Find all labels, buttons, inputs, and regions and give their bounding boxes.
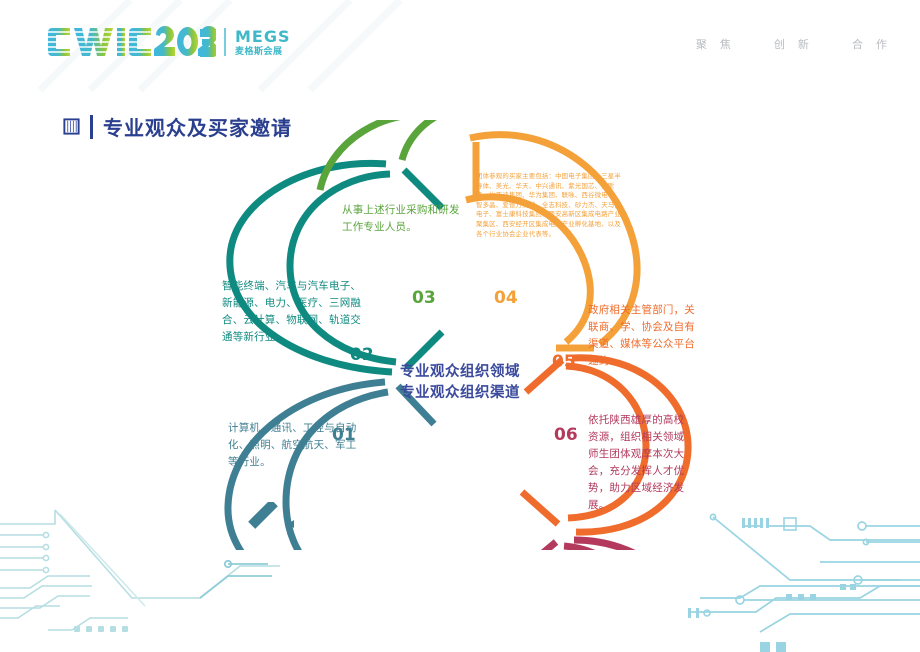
segment-text-03: 从事上述行业采购和研发工作专业人员。 [342, 202, 462, 236]
segment-text-01: 计算机、通讯、工控与自动化、照明、航空航天、军工等行业。 [228, 420, 358, 471]
nav-item-cooperation[interactable]: 合 作 [852, 36, 892, 52]
page-header: MEGS 麦格斯会展 聚 焦 创 新 合 作 [0, 0, 920, 80]
segment-number-03: 03 [412, 288, 436, 308]
segment-number-05: 05 [552, 352, 576, 372]
petal-diagram: 专业观众组织领域 专业观众组织渠道 01 02 03 04 05 06 计算机、… [170, 120, 750, 550]
petal-arc-06 [518, 540, 686, 550]
segment-text-05: 政府相关主管部门，关联商、学、协会及自有渠道、媒体等公众平台邀约。 [588, 302, 698, 370]
nav-item-innovation[interactable]: 创 新 [774, 36, 814, 52]
title-accent-bar [90, 115, 93, 139]
segment-text-04: 团体参观的买家主要包括：中国电子集团、三星半导体、美光、华天、中兴通讯、紫光国芯… [476, 172, 622, 239]
chip-icon [62, 117, 81, 136]
segment-number-04: 04 [494, 288, 518, 308]
nav-item-focus[interactable]: 聚 焦 [696, 36, 736, 52]
megs-sublogo: MEGS 麦格斯会展 [235, 29, 291, 56]
segment-number-06: 06 [554, 425, 578, 445]
segment-number-02: 02 [350, 345, 374, 365]
slide-canvas: MEGS 麦格斯会展 聚 焦 创 新 合 作 专业观众及买家邀请 [0, 0, 920, 652]
megs-logo-cn-text: 麦格斯会展 [235, 47, 291, 56]
segment-text-06: 依托陕西雄厚的高校资源，组织相关领域师生团体观摩本次大会，充分发挥人才优势，助力… [588, 412, 694, 514]
brand-logo[interactable]: MEGS 麦格斯会展 [48, 24, 291, 60]
center-label-line2: 专业观众组织渠道 [170, 383, 750, 404]
cwic-2023-logo-icon [48, 25, 216, 59]
top-navigation: 聚 焦 创 新 合 作 [658, 36, 892, 52]
segment-text-02: 智能终端、汽车与汽车电子、新能源、电力、医疗、三网融合、云计算、物联网、轨道交通… [222, 278, 362, 346]
megs-logo-text: MEGS [235, 29, 291, 45]
logo-divider [224, 28, 226, 56]
